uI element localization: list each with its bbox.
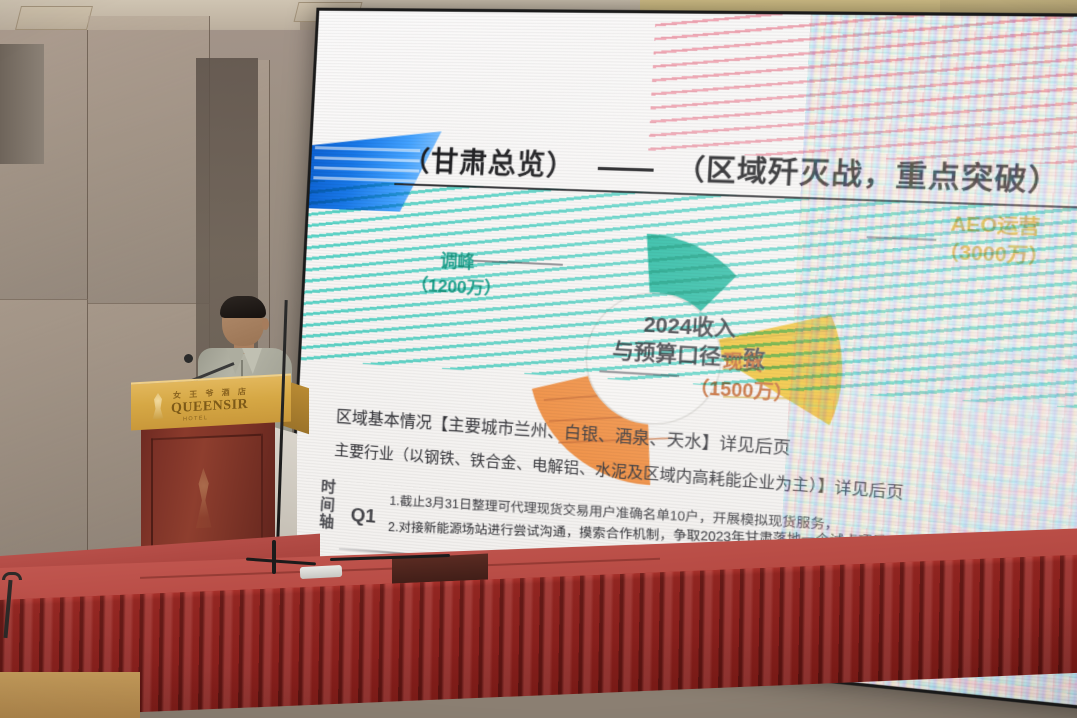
wall-panel bbox=[88, 16, 210, 304]
chart-label-tiaofeng-name: 调峰 bbox=[440, 251, 476, 272]
speaker-ear bbox=[262, 318, 269, 330]
chart-label-tiaofeng-value: （1200万） bbox=[410, 270, 502, 300]
leader-line-aeo bbox=[867, 236, 937, 240]
ceiling-tile bbox=[15, 6, 93, 30]
timeline-quarter-q1: Q1 bbox=[350, 505, 376, 529]
wall-column bbox=[0, 44, 44, 164]
slide-title-right: （区域歼灭战，重点突破） bbox=[675, 153, 1063, 197]
slide-title-left: （甘肃总览） bbox=[402, 146, 577, 182]
floor-wood bbox=[0, 672, 140, 718]
hotel-name-en: QUEENSIR bbox=[171, 397, 248, 417]
microphone-head bbox=[184, 354, 193, 363]
speaker-hair bbox=[220, 296, 266, 318]
podium-plaque: 女 王 爷 酒 店 QUEENSIR HOTEL bbox=[131, 374, 291, 431]
power-strip bbox=[300, 565, 343, 579]
slide-title: （甘肃总览） （区域歼灭战，重点突破） bbox=[402, 139, 1077, 203]
timeline-axis-label: 时间轴 bbox=[316, 478, 338, 533]
cable bbox=[272, 540, 276, 574]
hotel-name-sub: HOTEL bbox=[183, 415, 208, 422]
conference-room-photo: （甘肃总览） （区域歼灭战，重点突破） bbox=[0, 0, 1077, 718]
chart-label-tiaofeng: 调峰 （1200万） bbox=[410, 245, 503, 300]
hotel-logo-icon bbox=[149, 392, 167, 419]
chart-label-aeo-name: AEO运营 bbox=[950, 213, 1041, 238]
chair bbox=[0, 572, 26, 640]
title-dash bbox=[597, 167, 653, 172]
chart-label-aeo-value: （3000万） bbox=[937, 237, 1051, 270]
chart-label-xianhuo-name: 现货 bbox=[722, 351, 763, 375]
chart-label-aeo: AEO运营 （3000万） bbox=[937, 208, 1052, 270]
chart-label-xianhuo: 现货 （1500万） bbox=[689, 345, 797, 407]
